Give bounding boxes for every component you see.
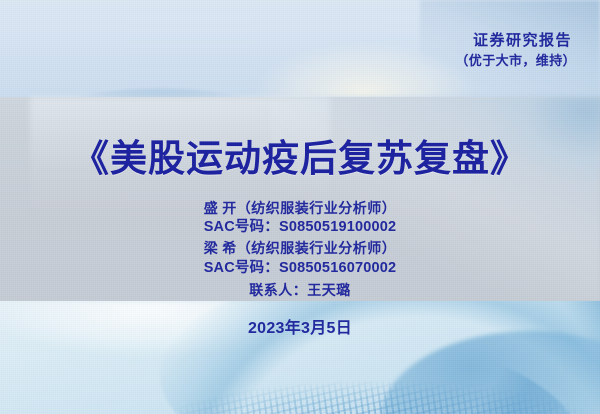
analyst-sac-primary: SAC号码：S0850519100002 <box>0 215 600 236</box>
bottom-brush-speckle <box>120 353 590 414</box>
investment-rating-label: （优于大市，维持） <box>455 50 576 69</box>
analyst-name-secondary: 梁 希（纺织服装行业分析师） <box>0 238 600 258</box>
publication-date: 2023年3月5日 <box>0 314 600 338</box>
analyst-sac-secondary: SAC号码：S0850516070002 <box>0 256 600 277</box>
report-type-label: 证券研究报告 <box>473 29 572 50</box>
page-title: 《美股运动疫后复苏复盘》 <box>0 128 600 182</box>
report-cover-slide: 证券研究报告 （优于大市，维持） 《美股运动疫后复苏复盘》 盛 开（纺织服装行业… <box>0 0 600 414</box>
contact-person-label: 联系人：王天璐 <box>0 280 600 300</box>
